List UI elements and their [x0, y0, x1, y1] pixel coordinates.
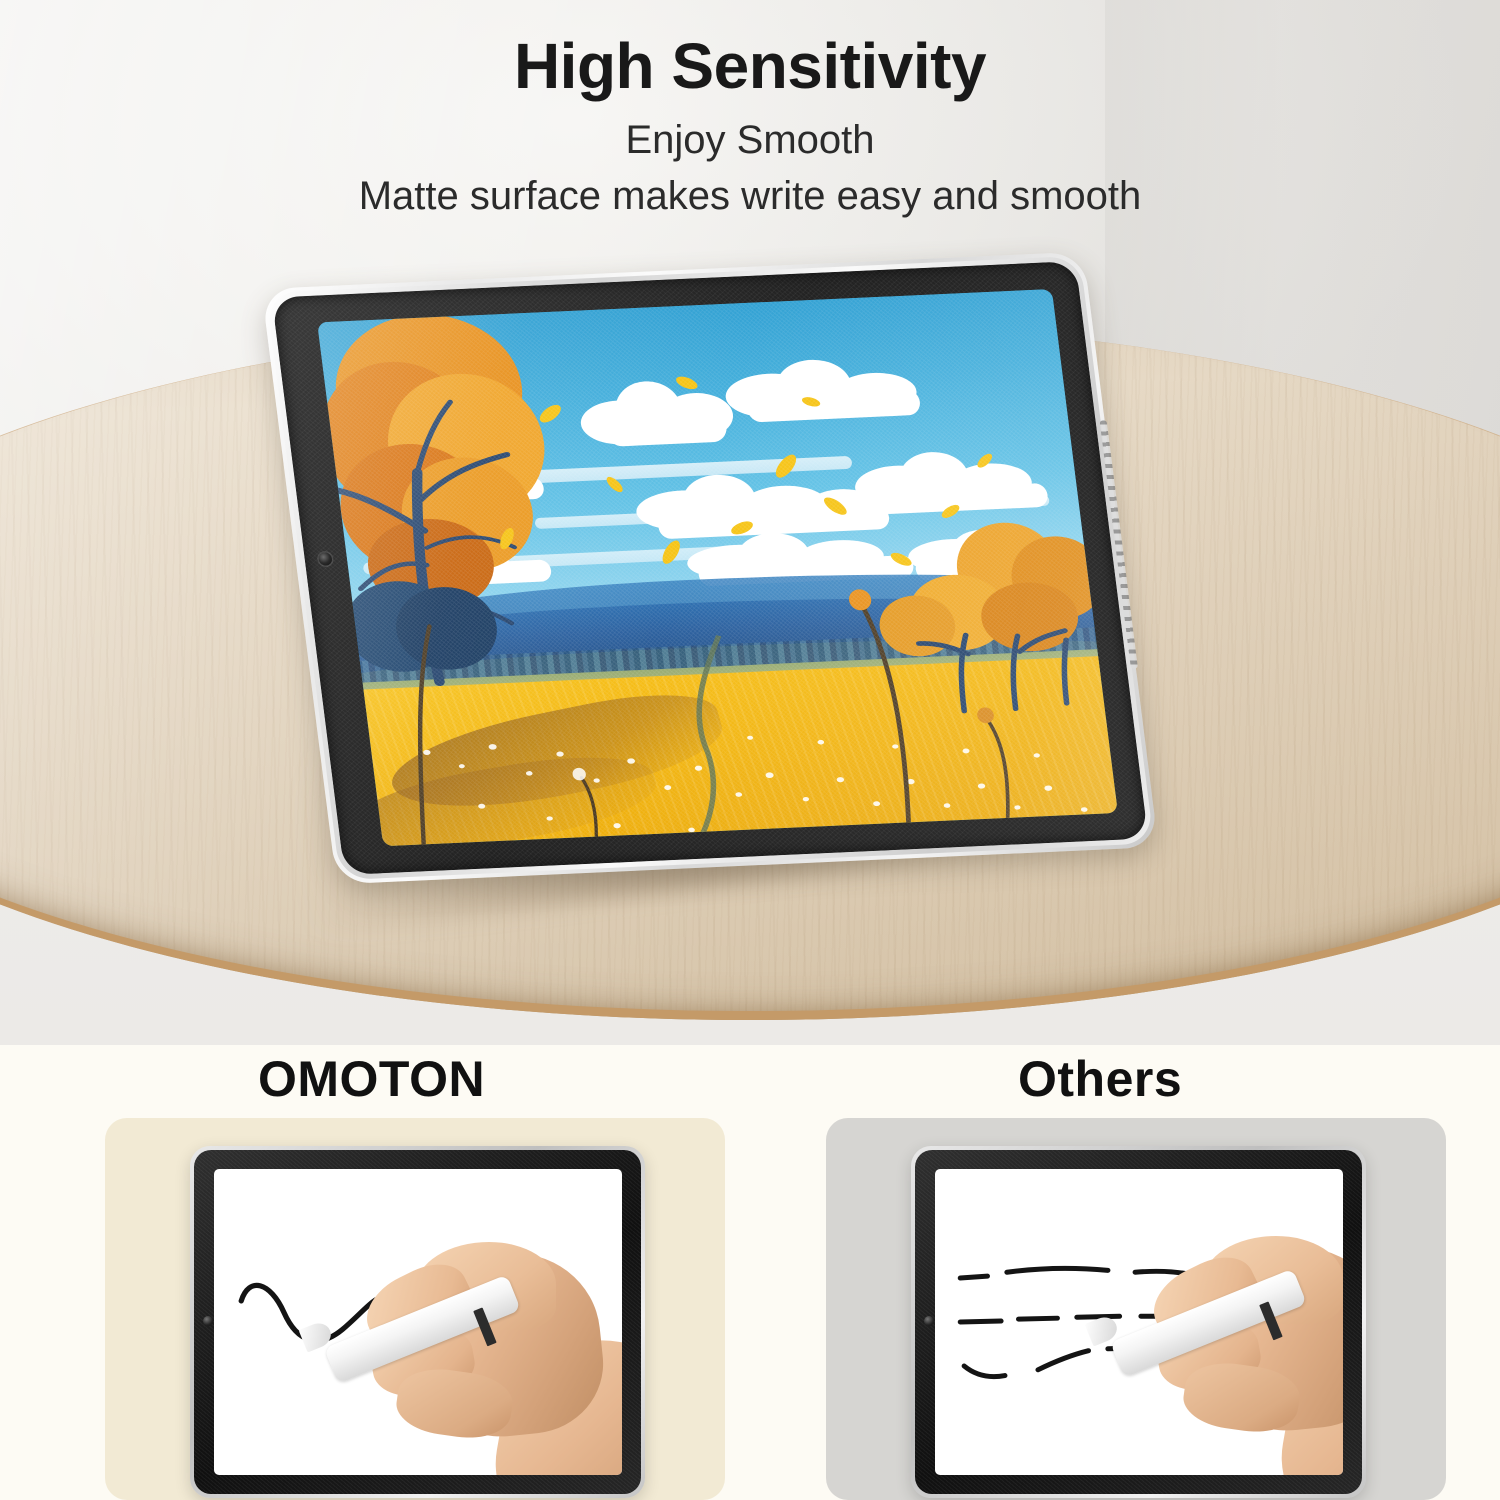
tablet-bezel — [194, 1150, 641, 1494]
page-description: Matte surface makes write easy and smoot… — [0, 172, 1500, 220]
tablet-device-omoton — [190, 1146, 645, 1498]
tablet-bezel — [272, 261, 1149, 875]
front-camera-icon — [924, 1316, 934, 1326]
comparison-label-others: Others — [1018, 1050, 1182, 1108]
writing-hand — [1139, 1230, 1343, 1475]
header-block: High Sensitivity Enjoy Smooth Matte surf… — [0, 30, 1500, 220]
tablet-device[interactable] — [261, 252, 1158, 885]
tablet-device-others — [911, 1146, 1366, 1498]
front-camera-icon — [203, 1316, 213, 1326]
tablet-bezel — [915, 1150, 1362, 1494]
page-title: High Sensitivity — [0, 30, 1500, 104]
drawing-canvas-omoton[interactable] — [214, 1169, 622, 1475]
comparison-panel-omoton[interactable] — [105, 1118, 725, 1500]
tablet-screen[interactable] — [317, 289, 1118, 846]
wallpaper-autumn-landscape — [317, 289, 1118, 846]
comparison-panel-others[interactable] — [826, 1118, 1446, 1500]
front-camera-icon — [318, 552, 333, 565]
drawing-canvas-others[interactable] — [935, 1169, 1343, 1475]
writing-hand — [353, 1236, 622, 1475]
screen-matte-texture — [317, 289, 1118, 846]
page-subtitle: Enjoy Smooth — [0, 116, 1500, 164]
comparison-label-omoton: OMOTON — [258, 1050, 485, 1108]
